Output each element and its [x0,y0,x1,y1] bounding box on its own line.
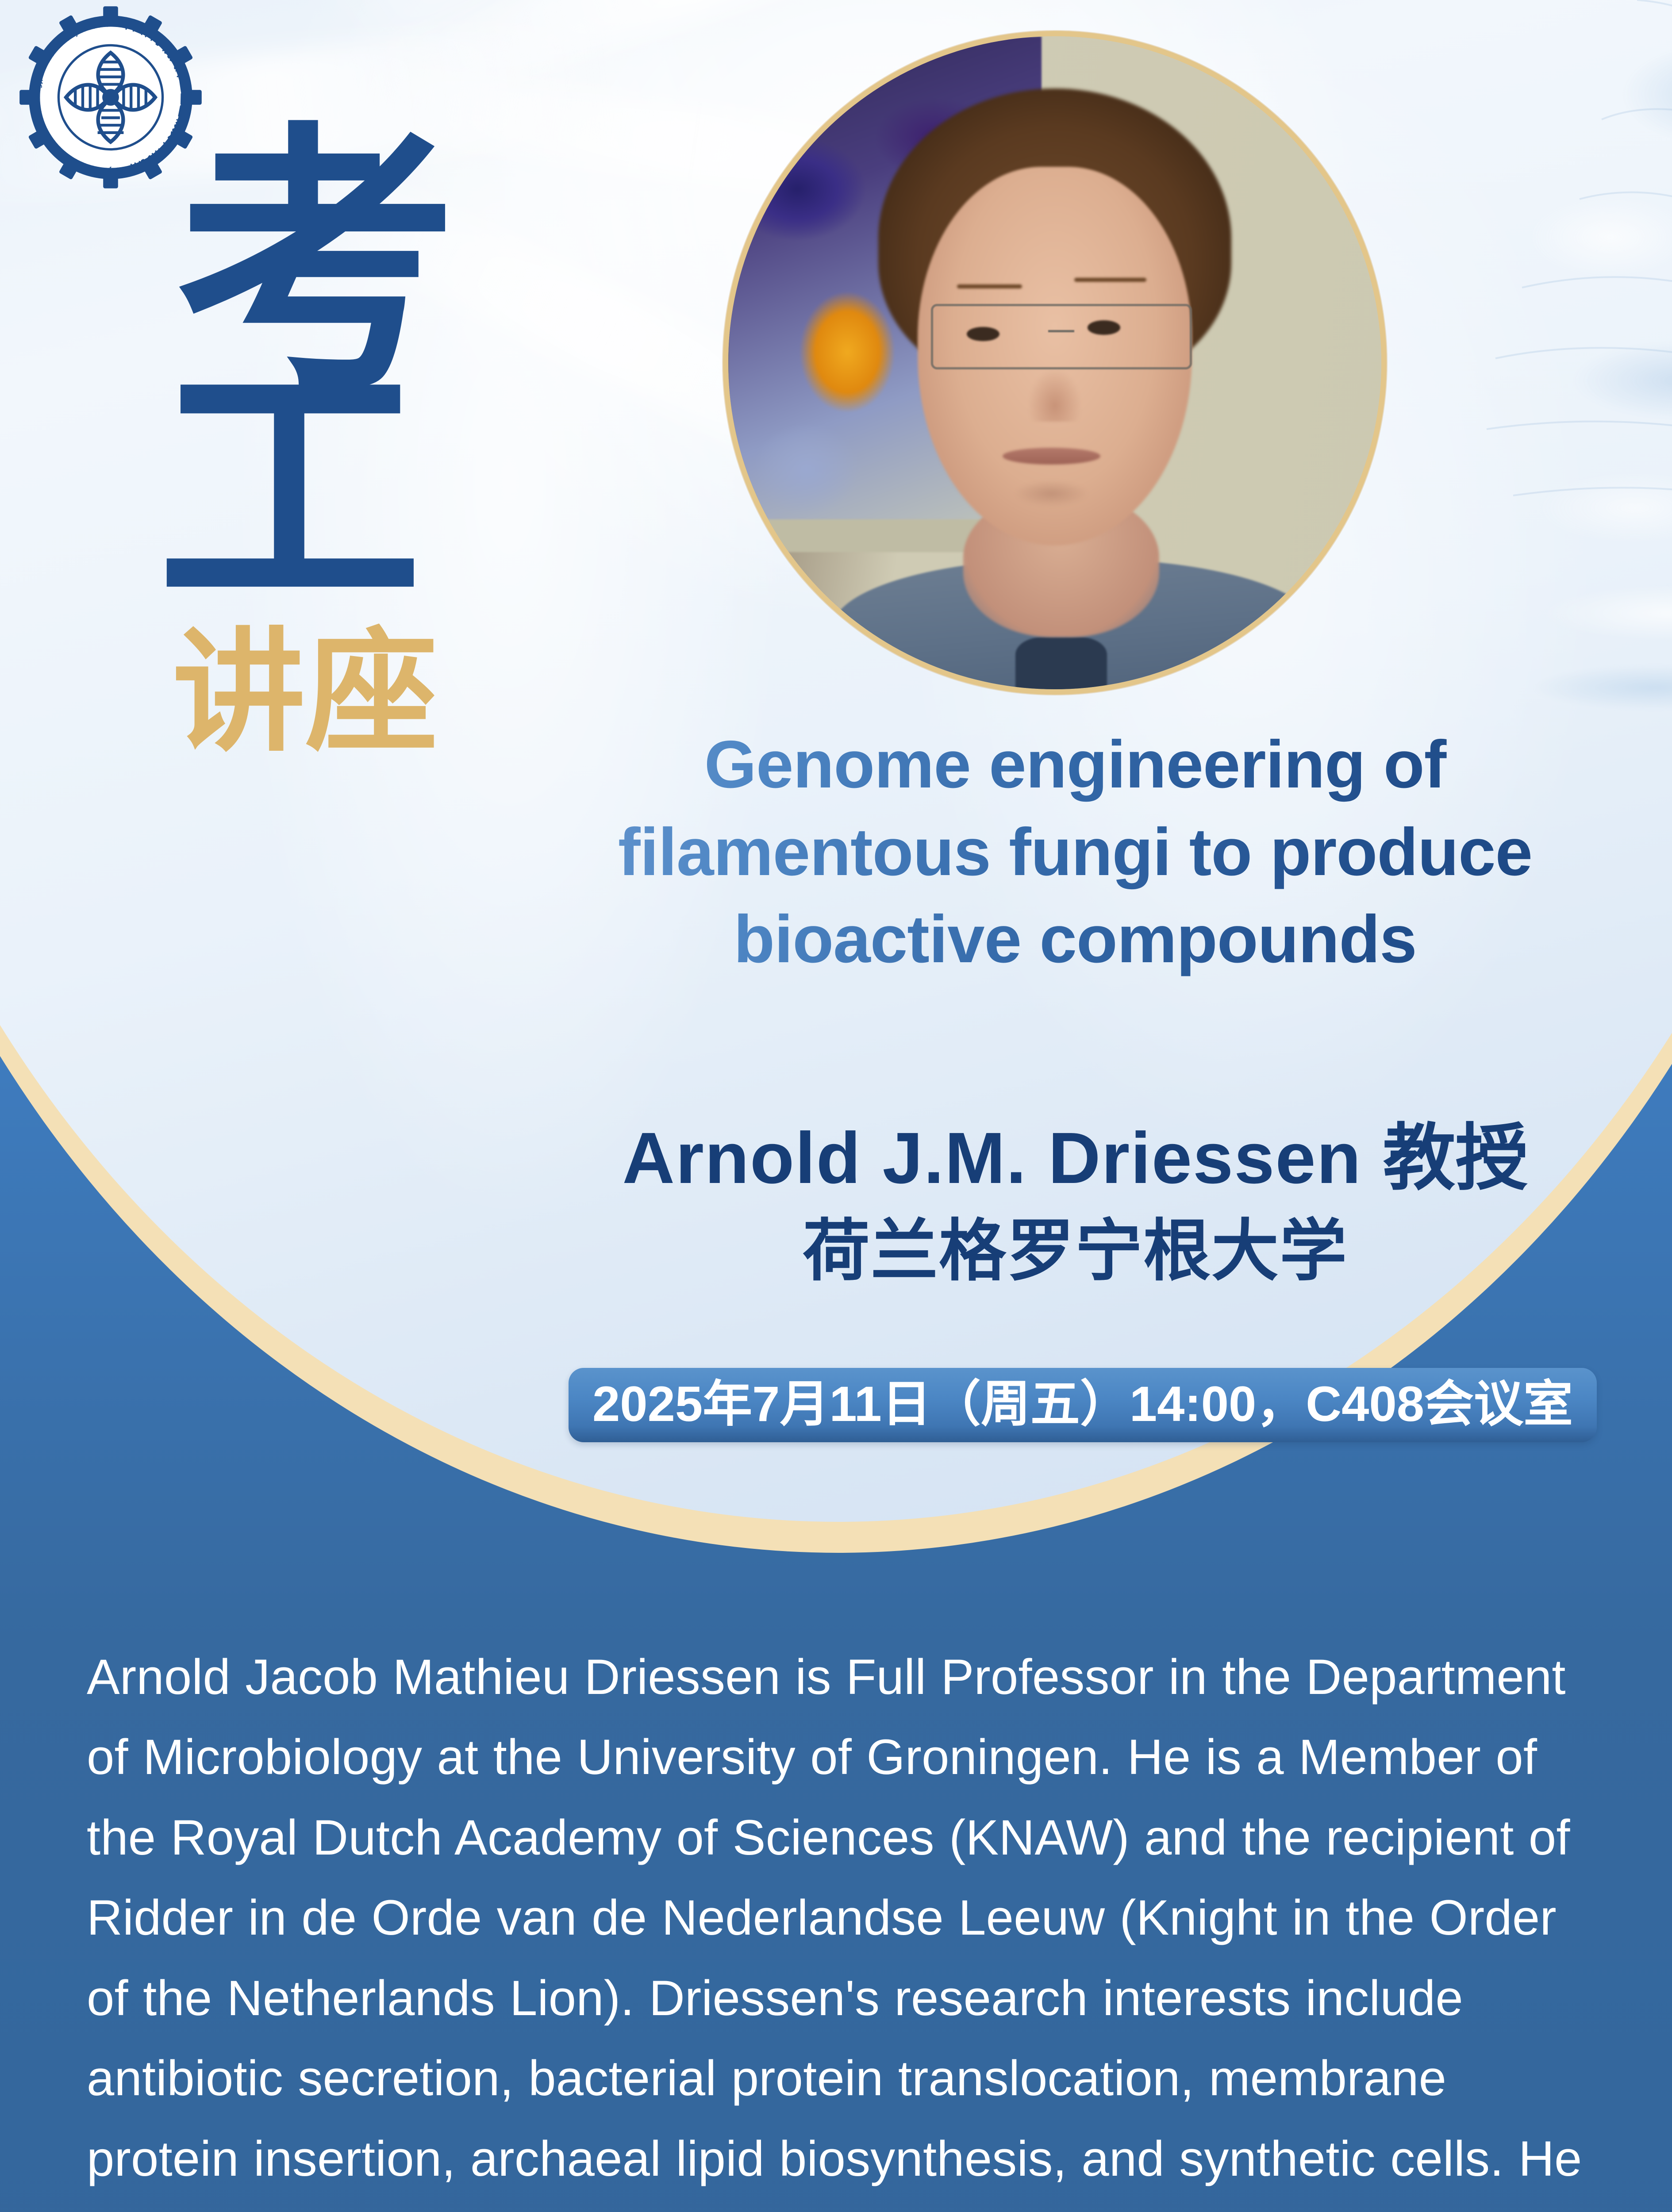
talk-title-line-3: bioactive compounds [509,896,1641,983]
calligraphy-series-label: 讲座 [88,624,522,760]
portrait-mouth [1003,448,1100,465]
speaker-name-latin: Arnold J.M. Driessen [623,1118,1362,1198]
talk-title: Genome engineering of filamentous fungi … [509,721,1641,983]
talk-title-line-2: filamentous fungi to produce [509,809,1641,896]
portrait-chin [1015,480,1087,507]
seminar-poster: 中国科学院天津工业生物技术研究所 Tianjin Institute of In… [0,0,1672,2212]
portrait-nose [1029,369,1081,422]
speaker-portrait-frame [723,31,1387,695]
lecture-series-calligraphy: 考 工 讲座 [0,133,522,760]
speaker-affiliation: 荷兰格罗宁根大学 [509,1209,1641,1293]
speaker-biography: Arnold Jacob Mathieu Driessen is Full Pr… [87,1637,1591,2212]
glass-contour-lines-decoration [1469,0,1672,575]
speaker-block: Arnold J.M. Driessen 教授 荷兰格罗宁根大学 [509,1115,1641,1293]
glass-texture-right-decoration [1416,0,1672,619]
speaker-academic-title: 教授 [1383,1118,1528,1198]
portrait-eyeglasses [931,304,1192,369]
glass-texture-bottom-decoration [1451,557,1672,743]
event-datetime-location-banner: 2025年7月11日（周五）14:00，C408会议室 [569,1368,1597,1442]
portrait-eyeglasses-bridge [1048,330,1074,332]
talk-title-line-1: Genome engineering of [509,721,1641,809]
speaker-portrait-photo [728,36,1381,689]
speaker-name-row: Arnold J.M. Driessen 教授 [509,1115,1641,1202]
portrait-eyebrow-left [957,284,1022,288]
portrait-eyebrow-right [1074,278,1146,282]
portrait-collar [1015,637,1107,689]
